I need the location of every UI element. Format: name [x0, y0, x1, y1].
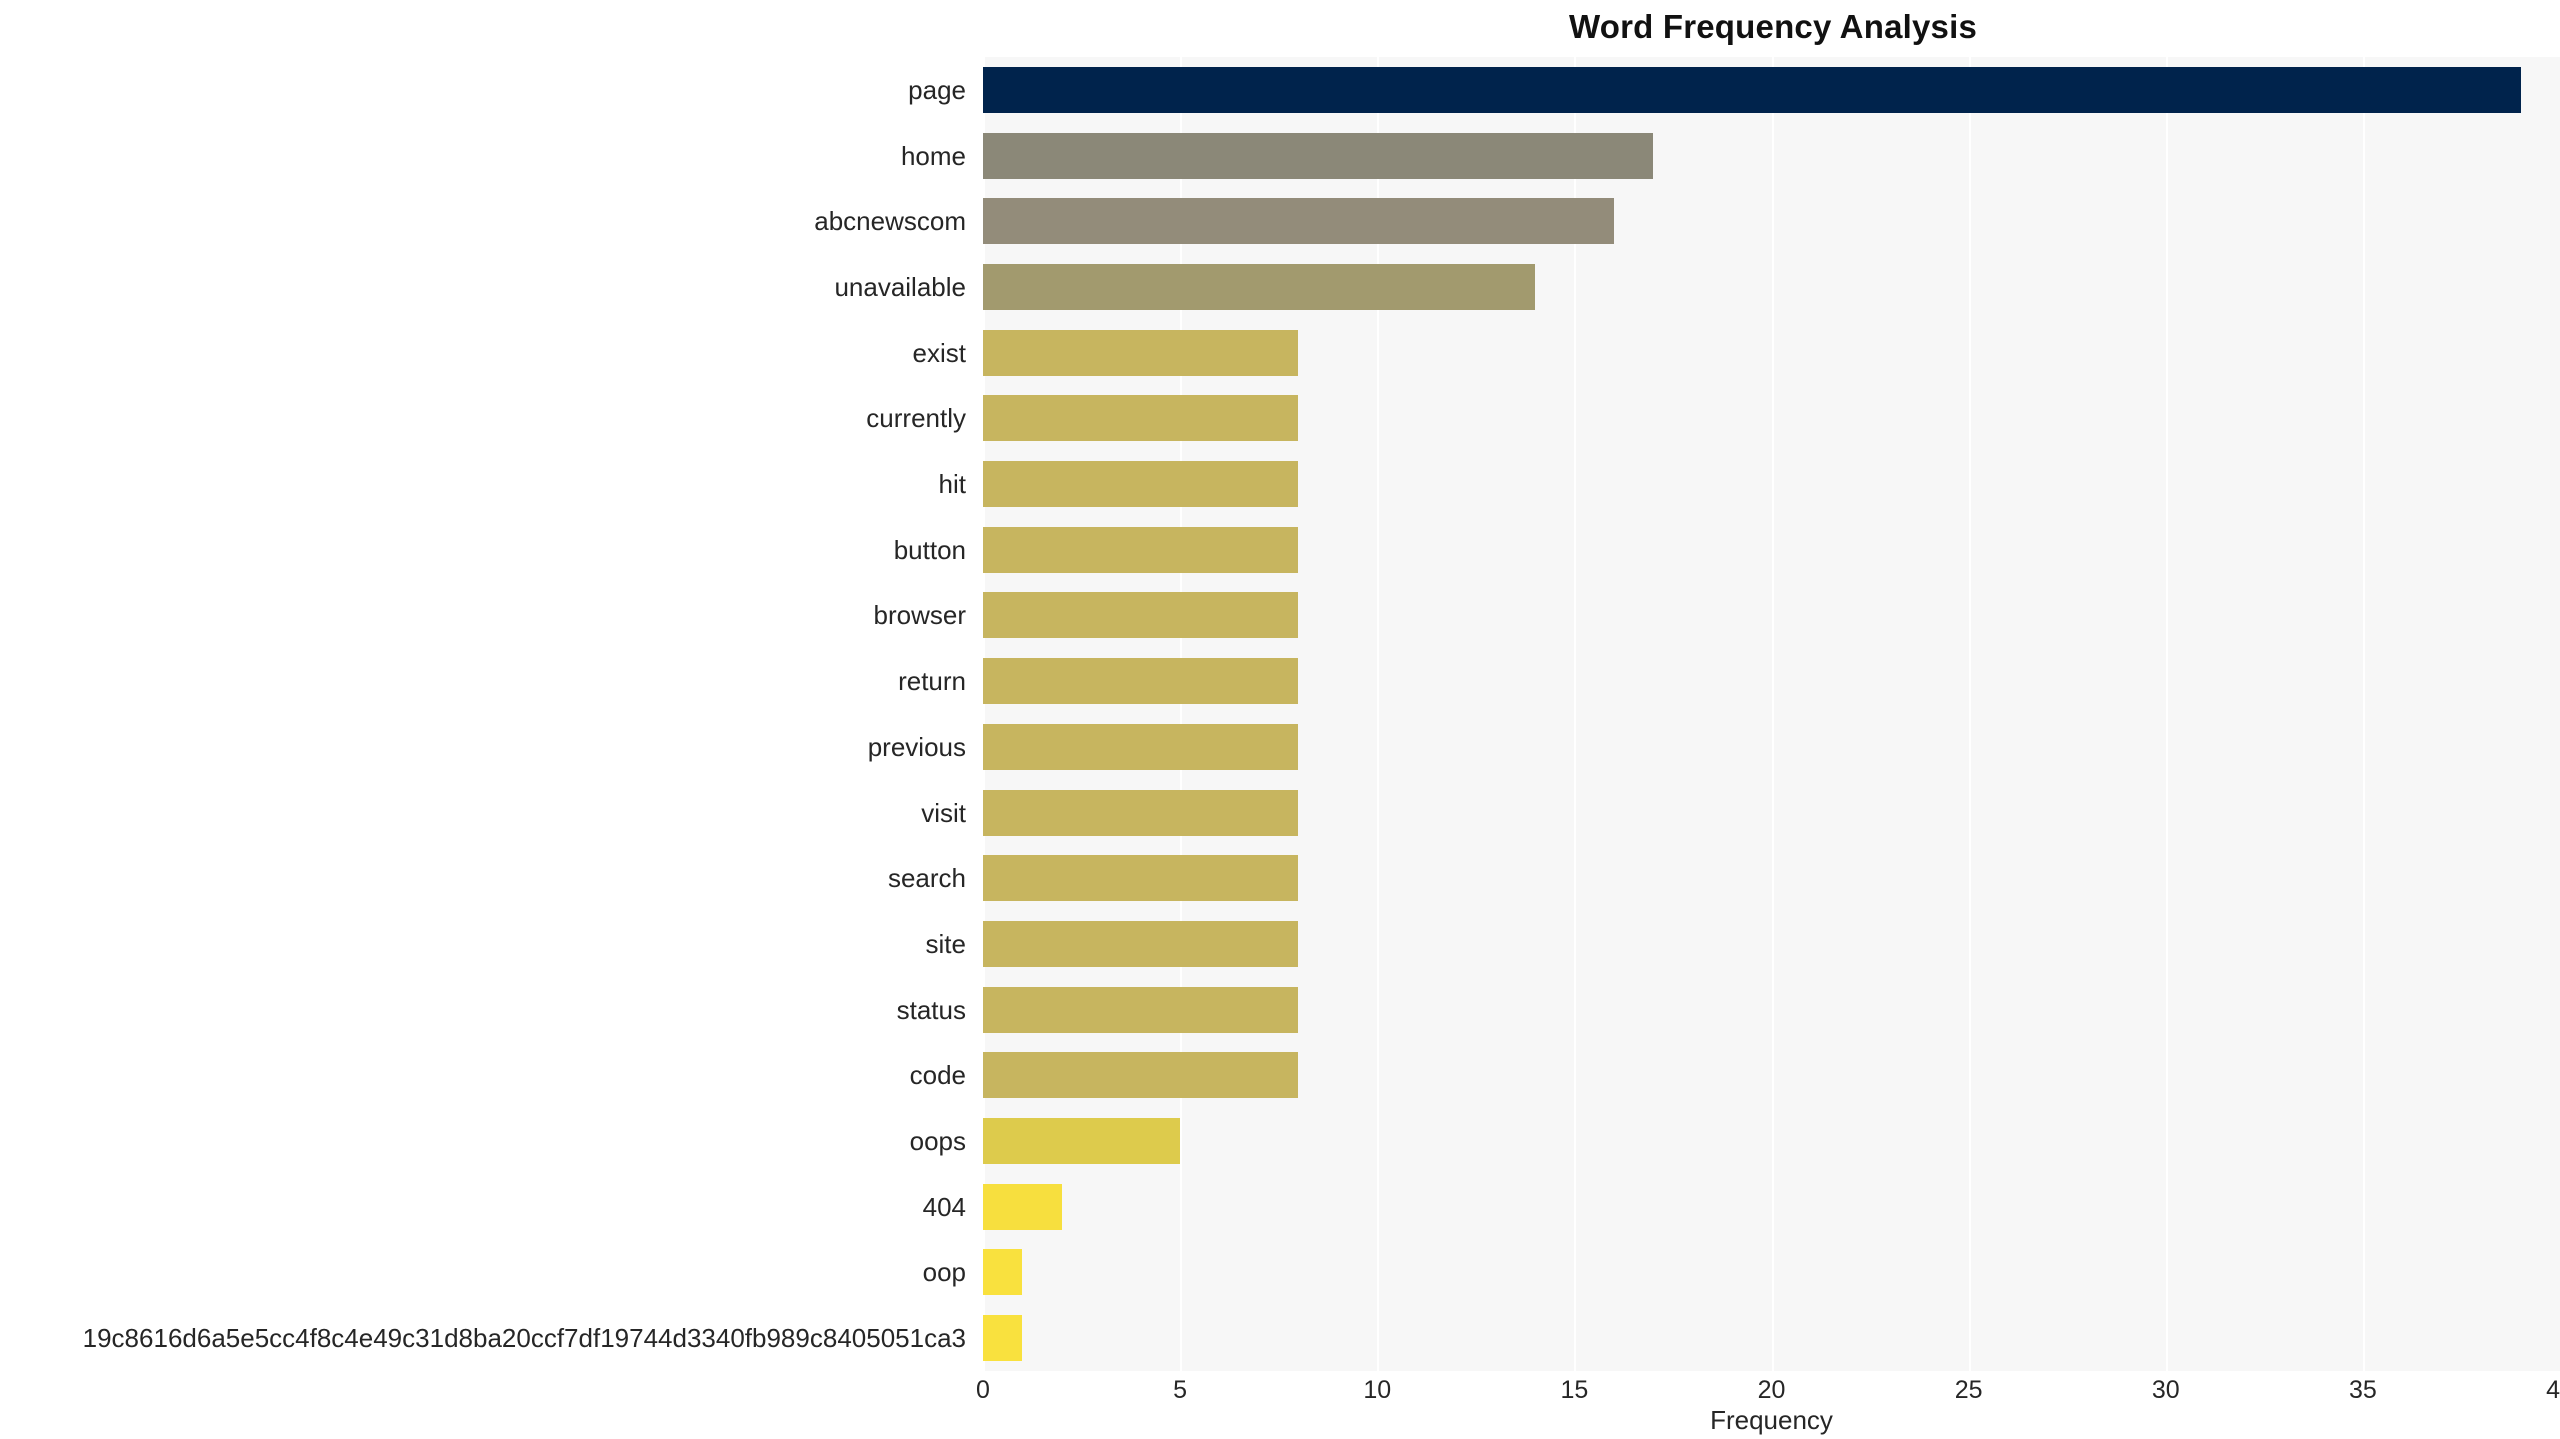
bar[interactable]: [983, 527, 1298, 573]
x-axis-tick-label: 0: [976, 1378, 990, 1403]
bar[interactable]: [983, 198, 1614, 244]
bar-row: [983, 264, 2560, 310]
y-axis-tick-label: 404: [0, 1194, 966, 1220]
x-axis-tick-label: 35: [2349, 1378, 2377, 1403]
y-axis-tick-label: oop: [0, 1259, 966, 1285]
y-axis-tick-labels: pagehomeabcnewscomunavailableexistcurren…: [0, 57, 966, 1371]
bar-row: [983, 921, 2560, 967]
page-title: Word Frequency Analysis: [0, 8, 2560, 46]
bar[interactable]: [983, 461, 1298, 507]
bar-row: [983, 1249, 2560, 1295]
x-axis-tick-label: 10: [1363, 1378, 1391, 1403]
bar[interactable]: [983, 133, 1653, 179]
x-axis-title: Frequency: [983, 1405, 2560, 1436]
y-axis-tick-label: return: [0, 668, 966, 694]
y-axis-tick-label: previous: [0, 734, 966, 760]
bar-row: [983, 1118, 2560, 1164]
x-axis-tick-label: 40: [2546, 1378, 2560, 1403]
bar-row: [983, 1315, 2560, 1361]
bar[interactable]: [983, 395, 1298, 441]
x-axis-tick-label: 20: [1758, 1378, 1786, 1403]
bar[interactable]: [983, 264, 1535, 310]
bar-row: [983, 527, 2560, 573]
bar-row: [983, 592, 2560, 638]
bar-row: [983, 855, 2560, 901]
bar[interactable]: [983, 658, 1298, 704]
bar[interactable]: [983, 921, 1298, 967]
x-axis-tick-label: 5: [1173, 1378, 1187, 1403]
bar-row: [983, 67, 2560, 113]
y-axis-tick-label: browser: [0, 602, 966, 628]
y-axis-tick-label: code: [0, 1062, 966, 1088]
bar-row: [983, 1184, 2560, 1230]
bar-row: [983, 987, 2560, 1033]
y-axis-tick-label: site: [0, 931, 966, 957]
y-axis-tick-label: button: [0, 537, 966, 563]
y-axis-tick-label: abcnewscom: [0, 208, 966, 234]
bar[interactable]: [983, 1052, 1298, 1098]
y-axis-tick-label: status: [0, 997, 966, 1023]
x-axis-tick-label: 15: [1560, 1378, 1588, 1403]
bar-row: [983, 1052, 2560, 1098]
bar[interactable]: [983, 592, 1298, 638]
chart-title-text: Word Frequency Analysis: [1569, 8, 1977, 46]
bar-row: [983, 198, 2560, 244]
word-frequency-chart: Word Frequency Analysis pagehomeabcnewsc…: [0, 0, 2560, 1439]
bar[interactable]: [983, 724, 1298, 770]
y-axis-tick-label: page: [0, 77, 966, 103]
y-axis-tick-label: home: [0, 143, 966, 169]
bar[interactable]: [983, 855, 1298, 901]
bar-row: [983, 790, 2560, 836]
y-axis-tick-label: search: [0, 865, 966, 891]
y-axis-tick-label: currently: [0, 405, 966, 431]
x-axis-tick-label: 30: [2152, 1378, 2180, 1403]
y-axis-tick-label: exist: [0, 340, 966, 366]
bar-series: [983, 57, 2560, 1371]
bar[interactable]: [983, 1184, 1062, 1230]
bar[interactable]: [983, 790, 1298, 836]
bar[interactable]: [983, 330, 1298, 376]
x-axis-tick-label: 25: [1955, 1378, 1983, 1403]
bar-row: [983, 330, 2560, 376]
bar-row: [983, 724, 2560, 770]
bar-row: [983, 395, 2560, 441]
y-axis-tick-label: oops: [0, 1128, 966, 1154]
bar[interactable]: [983, 1118, 1180, 1164]
bar[interactable]: [983, 987, 1298, 1033]
y-axis-tick-label: visit: [0, 800, 966, 826]
bar-row: [983, 133, 2560, 179]
bar[interactable]: [983, 1315, 1022, 1361]
bar-row: [983, 461, 2560, 507]
bar[interactable]: [983, 1249, 1022, 1295]
y-axis-tick-label: hit: [0, 471, 966, 497]
y-axis-tick-label: unavailable: [0, 274, 966, 300]
bar[interactable]: [983, 67, 2521, 113]
plot-area: [983, 57, 2560, 1371]
bar-row: [983, 658, 2560, 704]
y-axis-tick-label: 19c8616d6a5e5cc4f8c4e49c31d8ba20ccf7df19…: [0, 1325, 966, 1351]
